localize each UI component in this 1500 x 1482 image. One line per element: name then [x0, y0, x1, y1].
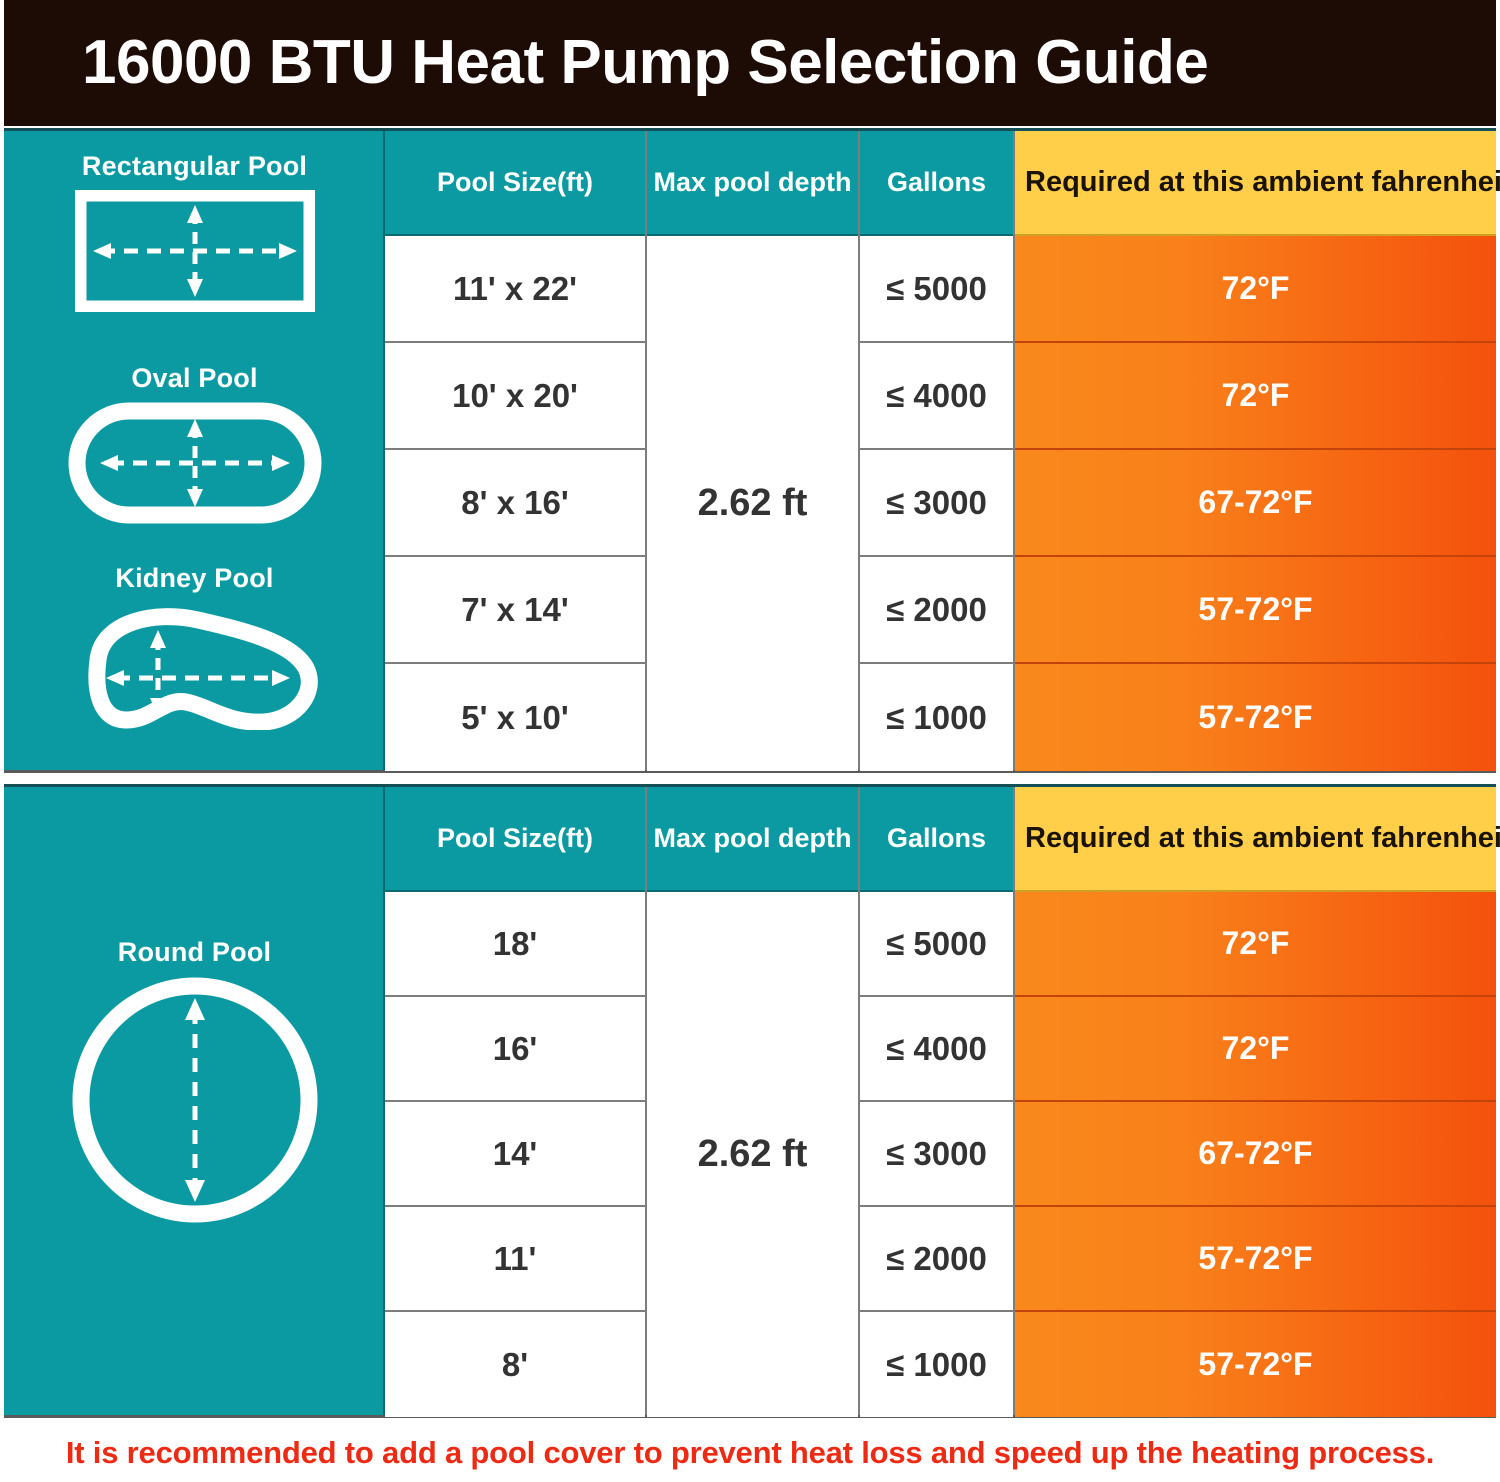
header-max-depth-top: Max pool depth [647, 131, 858, 236]
table-row: 16' [385, 997, 645, 1102]
column-ambient-bottom: Required at this ambient fahrenheit 72°F… [1015, 787, 1496, 1415]
table-row: 72°F [1015, 997, 1496, 1102]
column-pool-size-bottom: Pool Size(ft) 18' 16' 14' 11' 8' [385, 787, 647, 1415]
table-row: 14' [385, 1102, 645, 1207]
table-row: ≤ 4000 [860, 997, 1013, 1102]
shape-label-rectangular: Rectangular Pool [4, 151, 385, 182]
table-row: ≤ 5000 [860, 236, 1013, 343]
title-bar: 16000 BTU Heat Pump Selection Guide [4, 0, 1496, 126]
table-row: ≤ 2000 [860, 557, 1013, 664]
column-gallons-bottom: Gallons ≤ 5000 ≤ 4000 ≤ 3000 ≤ 2000 ≤ 10… [860, 787, 1015, 1415]
table-row: 57-72°F [1015, 1207, 1496, 1312]
table-row: ≤ 3000 [860, 450, 1013, 557]
table-row: ≤ 2000 [860, 1207, 1013, 1312]
header-pool-size-bottom: Pool Size(ft) [385, 787, 645, 892]
header-max-depth-bottom: Max pool depth [647, 787, 858, 892]
table-row: ≤ 1000 [860, 1312, 1013, 1417]
table-row: 8' x 16' [385, 450, 645, 557]
table-row: ≤ 1000 [860, 664, 1013, 771]
column-pool-size-top: Pool Size(ft) 11' x 22' 10' x 20' 8' x 1… [385, 131, 647, 770]
shape-block-rectangular: Rectangular Pool [4, 151, 385, 317]
rectangular-pool-icon [75, 190, 315, 317]
shape-label-oval: Oval Pool [4, 363, 385, 394]
table-row: 11' [385, 1207, 645, 1312]
shape-block-oval: Oval Pool [4, 363, 385, 529]
column-ambient-top: Required at this ambient fahrenheit 72°F… [1015, 131, 1496, 770]
table-row: 5' x 10' [385, 664, 645, 771]
shape-label-kidney: Kidney Pool [4, 563, 385, 594]
table-row: 72°F [1015, 236, 1496, 343]
table-row: ≤ 3000 [860, 1102, 1013, 1207]
shape-block-kidney: Kidney Pool [4, 563, 385, 735]
table-row: 72°F [1015, 892, 1496, 997]
header-pool-size-top: Pool Size(ft) [385, 131, 645, 236]
header-gallons-top: Gallons [860, 131, 1013, 236]
table-row: 18' [385, 892, 645, 997]
table-row: 7' x 14' [385, 557, 645, 664]
header-ambient-bottom: Required at this ambient fahrenheit [1015, 787, 1496, 892]
table-row: 67-72°F [1015, 450, 1496, 557]
recommendation-note: It is recommended to add a pool cover to… [66, 1435, 1434, 1471]
max-depth-value-bottom: 2.62 ft [647, 892, 858, 1417]
max-depth-value-top: 2.62 ft [647, 236, 858, 771]
table-row: 67-72°F [1015, 1102, 1496, 1207]
shape-block-round: Round Pool [4, 937, 385, 1229]
table-section-round-pool: Round Pool Pool Size(ft) 18' [4, 784, 1496, 1418]
table-row: ≤ 5000 [860, 892, 1013, 997]
column-max-depth-top: Max pool depth 2.62 ft [647, 131, 860, 770]
shape-panel-bottom: Round Pool [4, 787, 385, 1415]
table-row: 57-72°F [1015, 557, 1496, 664]
oval-pool-icon [68, 402, 322, 529]
columns-bottom: Pool Size(ft) 18' 16' 14' 11' 8' Max poo… [385, 787, 1496, 1415]
page-title: 16000 BTU Heat Pump Selection Guide [82, 32, 1208, 94]
kidney-pool-icon [68, 602, 322, 735]
shape-panel-top: Rectangular Pool O [4, 131, 385, 770]
columns-top: Pool Size(ft) 11' x 22' 10' x 20' 8' x 1… [385, 131, 1496, 770]
table-row: 8' [385, 1312, 645, 1417]
table-row: ≤ 4000 [860, 343, 1013, 450]
table-row: 11' x 22' [385, 236, 645, 343]
selection-guide-page: 16000 BTU Heat Pump Selection Guide Rect… [0, 0, 1500, 1482]
column-gallons-top: Gallons ≤ 5000 ≤ 4000 ≤ 3000 ≤ 2000 ≤ 10… [860, 131, 1015, 770]
table-row: 57-72°F [1015, 664, 1496, 771]
footer-note-bar: It is recommended to add a pool cover to… [0, 1424, 1500, 1482]
header-gallons-bottom: Gallons [860, 787, 1013, 892]
column-max-depth-bottom: Max pool depth 2.62 ft [647, 787, 860, 1415]
table-section-shaped-pools: Rectangular Pool O [4, 128, 1496, 773]
header-ambient-top: Required at this ambient fahrenheit [1015, 131, 1496, 236]
round-pool-icon [71, 976, 319, 1229]
table-row: 10' x 20' [385, 343, 645, 450]
table-row: 72°F [1015, 343, 1496, 450]
shape-label-round: Round Pool [4, 937, 385, 968]
table-row: 57-72°F [1015, 1312, 1496, 1417]
